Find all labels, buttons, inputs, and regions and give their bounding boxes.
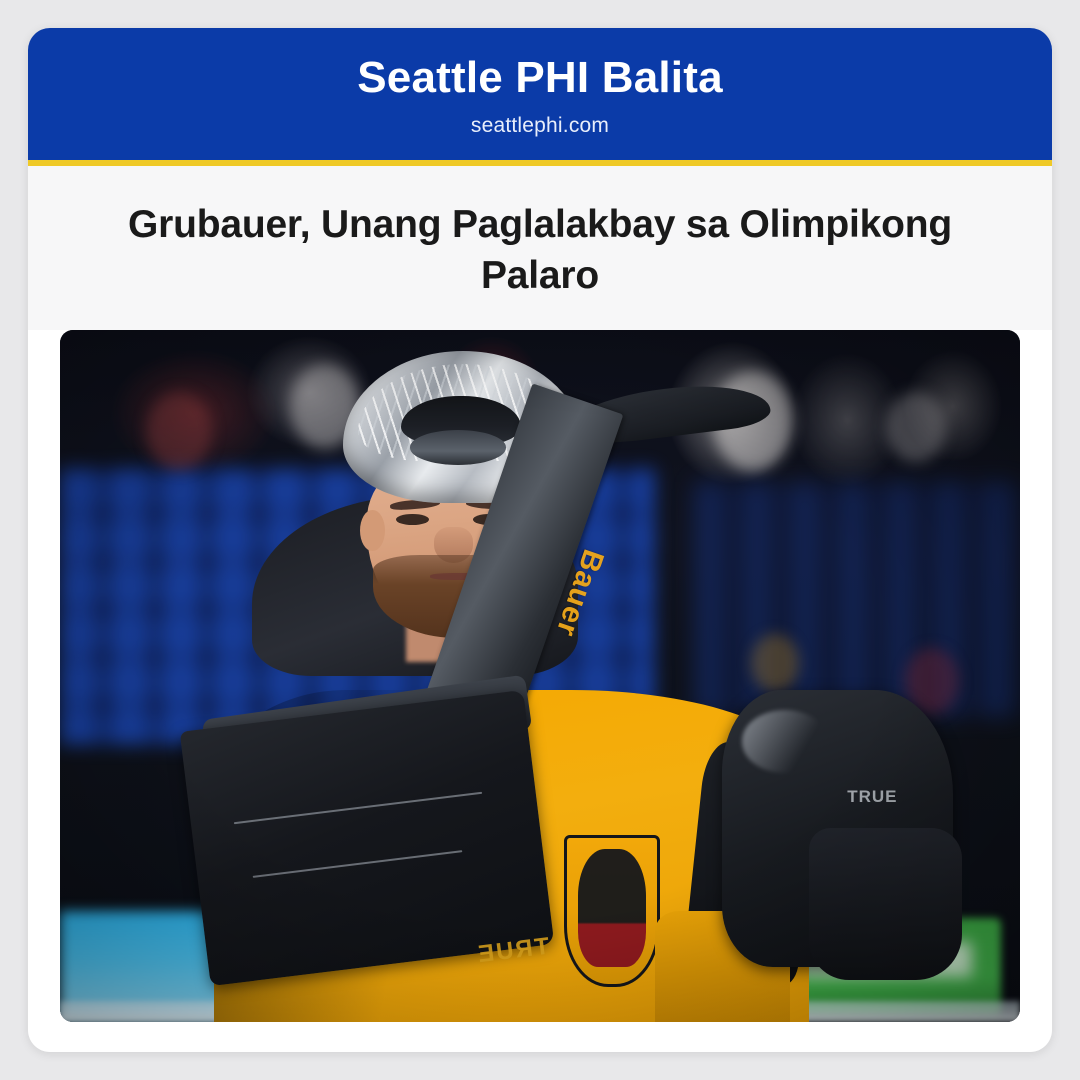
article-image-container: Bauer TRUE TRUE (28, 330, 1052, 1052)
mask-chin-cup (410, 430, 506, 465)
page-title: Grubauer, Unang Paglalakbay sa Olimpikon… (72, 200, 1008, 301)
news-card: Seattle PHI Balita seattlephi.com Grubau… (28, 28, 1052, 1052)
brand-title: Seattle PHI Balita (58, 54, 1022, 102)
eagle-icon (578, 849, 645, 967)
article-photo: Bauer TRUE TRUE (60, 330, 1020, 1022)
glove-highlight (742, 710, 828, 772)
glove-cuff (809, 828, 963, 980)
site-header: Seattle PHI Balita seattlephi.com (28, 28, 1052, 160)
goalie-player: Bauer TRUE TRUE (60, 330, 1020, 1022)
brand-url[interactable]: seattlephi.com (58, 114, 1022, 138)
page-root: Seattle PHI Balita seattlephi.com Grubau… (0, 0, 1080, 1080)
eye-left (396, 514, 429, 525)
headline-section: Grubauer, Unang Paglalakbay sa Olimpikon… (28, 166, 1052, 329)
glove-brand-label: TRUE (847, 787, 933, 815)
